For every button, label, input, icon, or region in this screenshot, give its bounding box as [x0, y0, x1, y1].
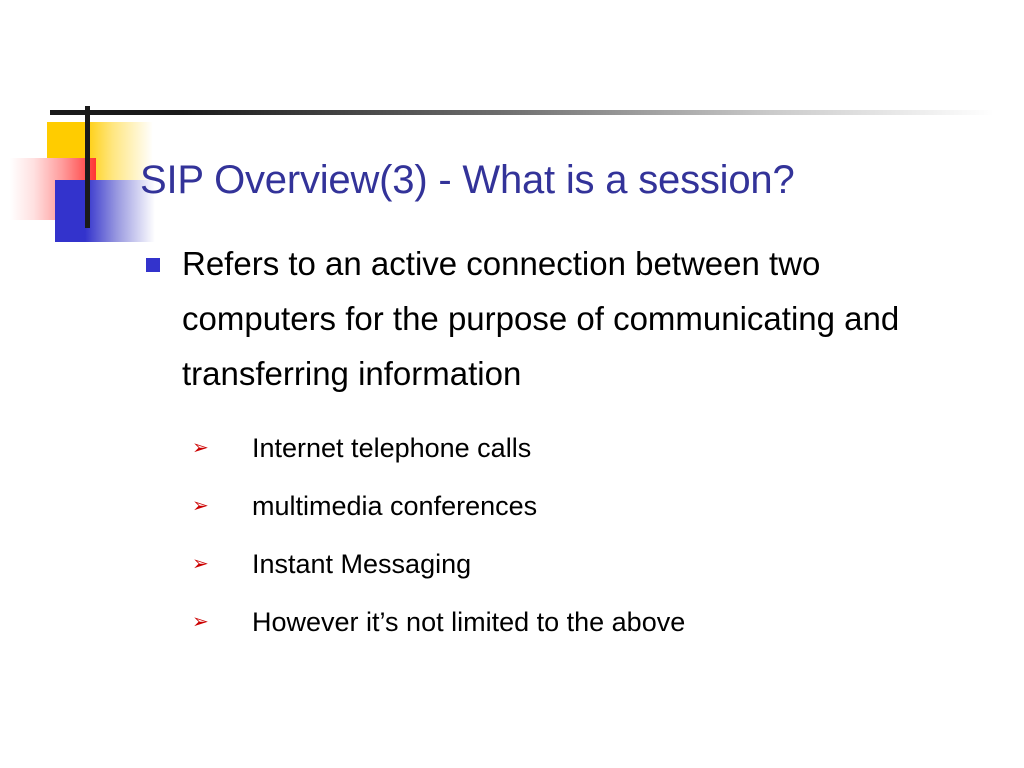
bullet-level2: ➢ Instant Messaging [182, 535, 1000, 593]
bullet-level2-label: multimedia conferences [252, 491, 537, 521]
red-arrow-bullet-icon: ➢ [192, 477, 214, 535]
slide: SIP Overview(3) - What is a session? Ref… [0, 0, 1024, 768]
bullet-level1-label: Refers to an active connection between t… [182, 236, 982, 401]
red-arrow-bullet-icon: ➢ [192, 593, 214, 651]
bullet-level2: ➢ multimedia conferences [182, 477, 1000, 535]
red-arrow-bullet-icon: ➢ [192, 419, 214, 477]
bullet-level2-label: Instant Messaging [252, 549, 471, 579]
red-square-icon [10, 158, 96, 220]
yellow-square-icon [47, 122, 153, 184]
bullet-list: Refers to an active connection between t… [140, 236, 1000, 651]
title-underline-rule [50, 110, 994, 115]
bullet-level1: Refers to an active connection between t… [140, 236, 1000, 651]
slide-title: SIP Overview(3) - What is a session? [140, 155, 1000, 205]
bullet-level2: ➢ Internet telephone calls [182, 419, 1000, 477]
sub-bullet-list: ➢ Internet telephone calls ➢ multimedia … [182, 419, 1000, 651]
red-arrow-bullet-icon: ➢ [192, 535, 214, 593]
bullet-level2: ➢ However it’s not limited to the above [182, 593, 1000, 651]
bullet-level2-label: However it’s not limited to the above [252, 607, 685, 637]
blue-square-bullet-icon [146, 258, 160, 272]
vertical-rule-icon [85, 106, 90, 228]
bullet-level2-label: Internet telephone calls [252, 433, 531, 463]
